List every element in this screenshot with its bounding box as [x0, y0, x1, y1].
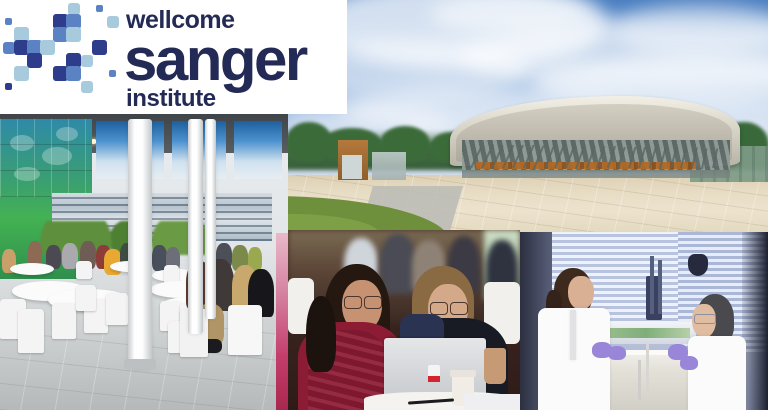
notebook [464, 394, 520, 410]
cafe-chair [76, 261, 92, 279]
campus-building-photo [280, 0, 768, 234]
equipment-arm [650, 256, 654, 314]
logo-mosaic-icon [2, 2, 120, 112]
glass-mullions [0, 119, 92, 197]
eyeglasses [430, 302, 448, 315]
logo-tile-dark-blue [5, 83, 12, 90]
cafe-chair [52, 303, 76, 339]
cafe-chair [106, 293, 128, 325]
logo-tile-mid-blue [66, 66, 81, 81]
cable [638, 360, 641, 400]
purple-glove [680, 356, 698, 370]
logo-tile-light-blue [81, 55, 93, 67]
logo-tile-dark-blue [27, 53, 42, 68]
eyeglasses [344, 296, 362, 309]
structural-column [128, 119, 152, 369]
image-collage: wellcome sanger institute [0, 0, 768, 410]
glass-shelter [372, 152, 406, 180]
eyeglasses [450, 302, 468, 315]
pink-edge-strip [276, 233, 288, 410]
cafe-chair [76, 285, 96, 311]
atrium-cafeteria-photo [0, 113, 288, 410]
purple-glove [608, 346, 626, 360]
logo-tile-mid-blue [5, 18, 12, 25]
logo-wordmark: wellcome sanger institute [126, 8, 344, 108]
laboratory-work-photo [520, 232, 768, 410]
logo-tile-light-blue [14, 66, 29, 81]
coffee-cup [484, 348, 506, 384]
logo-tile-light-blue [40, 40, 55, 55]
window [234, 121, 282, 179]
person-hair [306, 296, 336, 372]
laptop-logo-badge [428, 376, 440, 382]
equipment-arm [658, 260, 662, 314]
cable [646, 344, 649, 396]
logo-tile-light-blue [68, 3, 80, 15]
person-face [568, 276, 594, 310]
lab-coat [688, 336, 746, 410]
logo-tile-mid-blue [3, 42, 15, 54]
logo-tile-mid-blue [109, 70, 116, 77]
cafe-chair [228, 305, 262, 355]
logo-tile-light-blue [66, 27, 81, 42]
cafe-chair [18, 309, 44, 353]
wellcome-sanger-institute-logo: wellcome sanger institute [0, 0, 347, 114]
overhead-fixture [688, 254, 708, 276]
logo-line-sanger: sanger [124, 30, 306, 90]
safety-glasses [694, 314, 716, 324]
structural-column [188, 119, 203, 334]
background-person [380, 234, 416, 294]
cafe-table [10, 263, 54, 275]
outside-view [602, 328, 690, 338]
column-base [124, 359, 156, 369]
logo-tile-light-blue [107, 16, 119, 28]
structural-column [205, 119, 216, 319]
laptop-collaboration-photo [288, 230, 520, 410]
lab-coat-placket [570, 310, 576, 360]
logo-tile-mid-blue [96, 5, 103, 12]
logo-line-institute: institute [126, 87, 216, 111]
coffee-cup-lid [450, 370, 476, 377]
logo-tile-dark-blue [92, 40, 107, 55]
kiosk-glass [342, 155, 362, 179]
eyeglasses [364, 296, 382, 309]
logo-tile-light-blue [81, 81, 93, 93]
